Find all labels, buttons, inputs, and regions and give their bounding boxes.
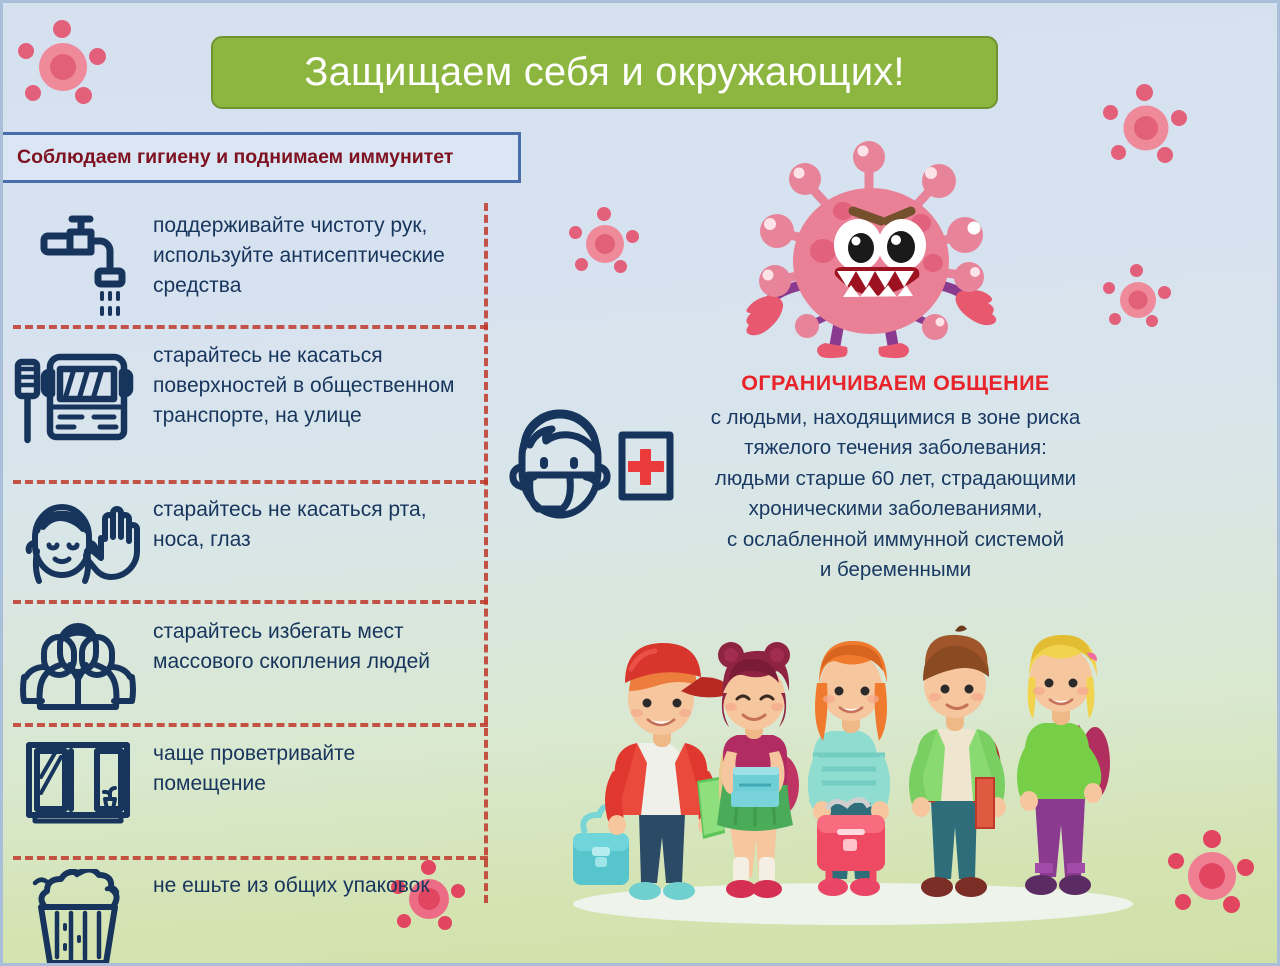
five-schoolchildren-illustration <box>559 595 1149 945</box>
tip-text: старайтесь не касаться рта, носа, глаз <box>153 493 459 555</box>
window-ventilation-icon <box>3 737 153 829</box>
limit-contact-line: с ослабленной иммунной системой <box>727 528 1064 551</box>
limit-contact-line: и беременными <box>820 558 971 581</box>
list-item: старайтесь избегать мест массового скопл… <box>3 615 491 715</box>
tip-text: чаще проветривайте помещение <box>153 737 459 799</box>
crowd-people-group-icon <box>3 615 153 715</box>
tip-text: поддерживайте чистоту рук, используйте а… <box>153 209 459 301</box>
face-hand-touch-icon <box>3 493 153 591</box>
tip-divider <box>13 325 488 329</box>
decorative-virus-icon <box>1103 85 1189 171</box>
limit-contact-line: с людьми, находящимися в зоне риска <box>711 406 1081 429</box>
tip-divider <box>13 723 488 727</box>
subtitle-box: Соблюдаем гигиену и поднимаем иммунитет <box>0 132 521 183</box>
limit-contact-line: хроническими заболеваниями, <box>749 497 1043 520</box>
tip-text: старайтесь избегать мест массового скопл… <box>153 615 459 677</box>
faucet-water-tap-icon <box>3 209 153 321</box>
hygiene-tips-list: поддерживайте чистоту рук, используйте а… <box>3 199 491 914</box>
decorative-virus-icon <box>1103 265 1173 335</box>
poster-root: Защищаем себя и окружающих! Соблюдаем ги… <box>0 0 1280 966</box>
child-5 <box>1017 635 1110 895</box>
list-item: старайтесь не касаться рта, носа, глаз <box>3 493 491 591</box>
limit-contact-line: людьми старше 60 лет, страдающими <box>715 467 1076 490</box>
list-item: старайтесь не касаться поверхностей в об… <box>3 339 491 447</box>
child-3 <box>808 641 890 896</box>
limit-contact-text-block: ОГРАНИЧИВАЕМ ОБЩЕНИЕ с людьми, находящим… <box>623 368 1168 586</box>
tip-divider <box>13 600 488 604</box>
decorative-virus-icon <box>569 208 641 280</box>
poster-title: Защищаем себя и окружающих! <box>304 50 905 95</box>
decorative-virus-icon <box>17 21 109 113</box>
bus-public-transport-icon <box>3 339 153 447</box>
tip-text: не ешьте из общих упаковок <box>153 869 459 901</box>
tip-divider <box>13 856 488 860</box>
list-item: не ешьте из общих упаковок <box>3 869 491 966</box>
child-1 <box>573 643 729 900</box>
tip-text: старайтесь не касаться поверхностей в об… <box>153 339 474 431</box>
child-4 <box>909 625 1006 897</box>
subtitle-text: Соблюдаем гигиену и поднимаем иммунитет <box>3 146 453 169</box>
list-item: поддерживайте чистоту рук, используйте а… <box>3 209 491 321</box>
poster-title-banner: Защищаем себя и окружающих! <box>211 36 998 109</box>
limit-contact-line: тяжелого течения заболевания: <box>744 436 1047 459</box>
tip-divider <box>13 480 488 484</box>
popcorn-shared-food-icon <box>3 869 153 966</box>
limit-contact-heading: ОГРАНИЧИВАЕМ ОБЩЕНИЕ <box>623 368 1168 399</box>
list-item: чаще проветривайте помещение <box>3 737 491 829</box>
child-2 <box>717 642 799 898</box>
angry-cartoon-virus-character <box>725 123 1015 368</box>
decorative-virus-icon <box>1167 831 1257 921</box>
